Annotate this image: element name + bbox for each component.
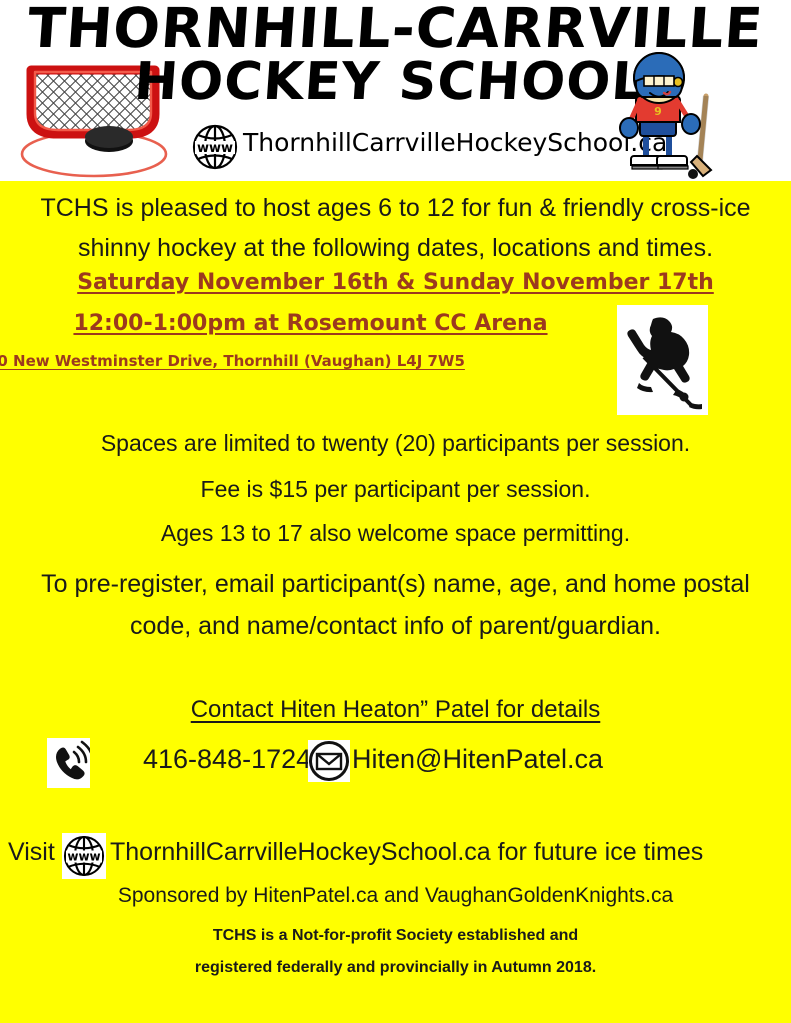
ages-welcome-text: Ages 13 to 17 also welcome space permitt… <box>0 520 791 547</box>
phone-icon[interactable] <box>47 738 90 788</box>
svg-text:www: www <box>67 850 100 864</box>
visit-website-text[interactable]: ThornhillCarrvilleHockeySchool.ca for fu… <box>110 838 703 867</box>
visit-label: Visit <box>8 838 55 867</box>
phone-number[interactable]: 416-848-1724 <box>143 744 311 775</box>
hockey-player-silhouette-icon <box>617 305 708 415</box>
sponsor-text: Sponsored by HitenPatel.ca and VaughanGo… <box>0 884 791 908</box>
event-address: 1000 New Westminster Drive, Thornhill (V… <box>0 352 611 370</box>
svg-text:www: www <box>197 141 233 156</box>
preregister-text: To pre-register, email participant(s) na… <box>8 563 783 647</box>
spaces-limit-text: Spaces are limited to twenty (20) partic… <box>0 430 791 457</box>
event-dates: Saturday November 16th & Sunday November… <box>0 270 791 295</box>
fee-text: Fee is $15 per participant per session. <box>0 476 791 503</box>
poster-header: THORNHILL-CARRVILLE HOCKEY SCHOOL www Th… <box>0 0 791 181</box>
www-globe-icon: www <box>62 833 106 879</box>
www-globe-icon: www <box>191 122 239 172</box>
poster-title-line2: HOCKEY SCHOOL <box>108 52 672 112</box>
legal-line-1: TCHS is a Not-for-profit Society establi… <box>0 927 791 945</box>
poster: THORNHILL-CARRVILLE HOCKEY SCHOOL www Th… <box>0 0 791 1023</box>
envelope-icon[interactable] <box>308 740 350 782</box>
svg-text:9: 9 <box>654 105 662 118</box>
event-time-venue: 12:00-1:00pm at Rosemount CC Arena <box>0 311 706 336</box>
header-website-text: ThornhillCarrvilleHockeySchool.ca <box>243 128 667 157</box>
email-address[interactable]: Hiten@HitenPatel.ca <box>352 744 603 775</box>
intro-text: TCHS is pleased to host ages 6 to 12 for… <box>8 188 783 268</box>
contact-heading: Contact Hiten Heaton” Patel for details <box>0 696 791 724</box>
legal-line-2: registered federally and provincially in… <box>0 959 791 977</box>
cartoon-hockey-kid-icon: 9 <box>614 48 732 181</box>
